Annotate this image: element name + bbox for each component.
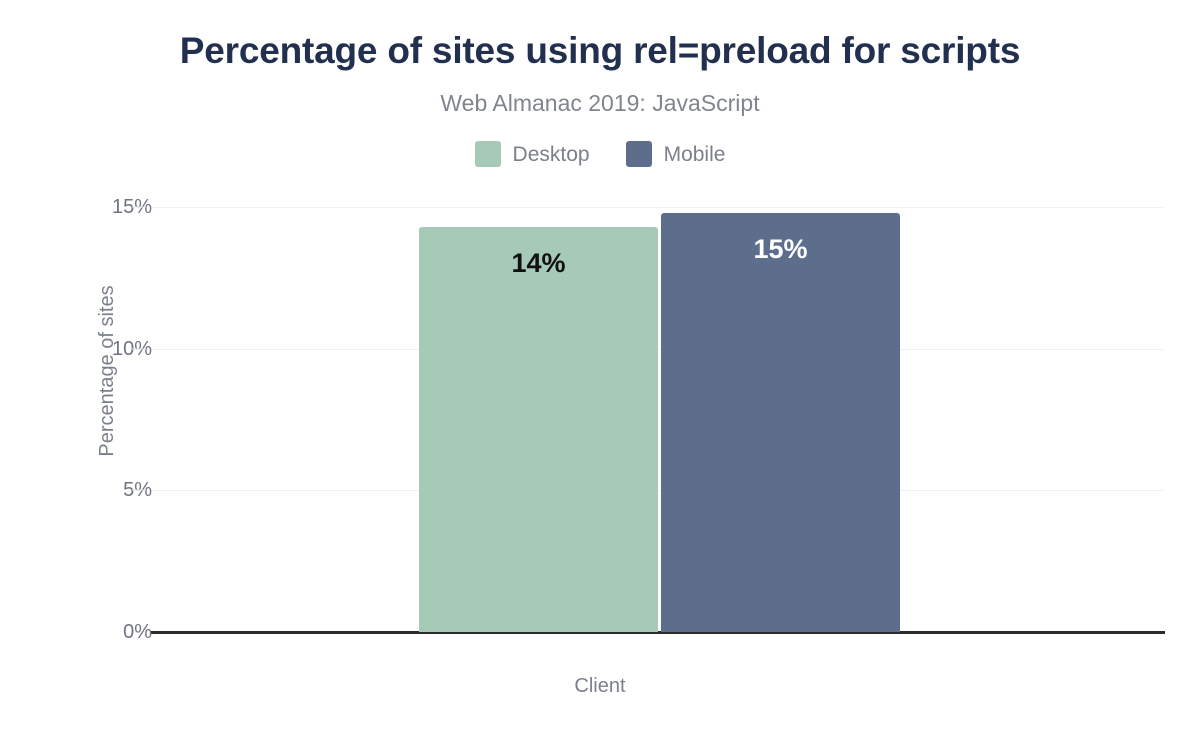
bar-value-label-desktop: 14% [419, 250, 658, 277]
legend-swatch-mobile [626, 141, 652, 167]
legend-item-desktop[interactable]: Desktop [475, 141, 590, 167]
bar-mobile[interactable]: 15% [661, 213, 900, 632]
chart-legend: Desktop Mobile [0, 141, 1200, 167]
legend-swatch-desktop [475, 141, 501, 167]
bar-desktop[interactable]: 14% [419, 227, 658, 632]
x-axis-title: Client [0, 675, 1200, 698]
y-tick-mark [132, 348, 146, 349]
plot-area: 14%15% [150, 195, 1165, 635]
y-tick-mark [132, 632, 146, 633]
y-axis-title: Percentage of sites [96, 285, 119, 456]
legend-label-desktop: Desktop [513, 144, 590, 165]
chart-title: Percentage of sites using rel=preload fo… [0, 30, 1200, 73]
legend-label-mobile: Mobile [664, 144, 726, 165]
legend-item-mobile[interactable]: Mobile [626, 141, 726, 167]
bar-chart: Percentage of sites using rel=preload fo… [0, 0, 1200, 742]
y-tick-mark [132, 207, 146, 208]
y-tick-mark [132, 490, 146, 491]
bar-value-label-mobile: 15% [661, 236, 900, 263]
chart-subtitle: Web Almanac 2019: JavaScript [0, 90, 1200, 118]
bar-series: 14%15% [150, 195, 1165, 635]
